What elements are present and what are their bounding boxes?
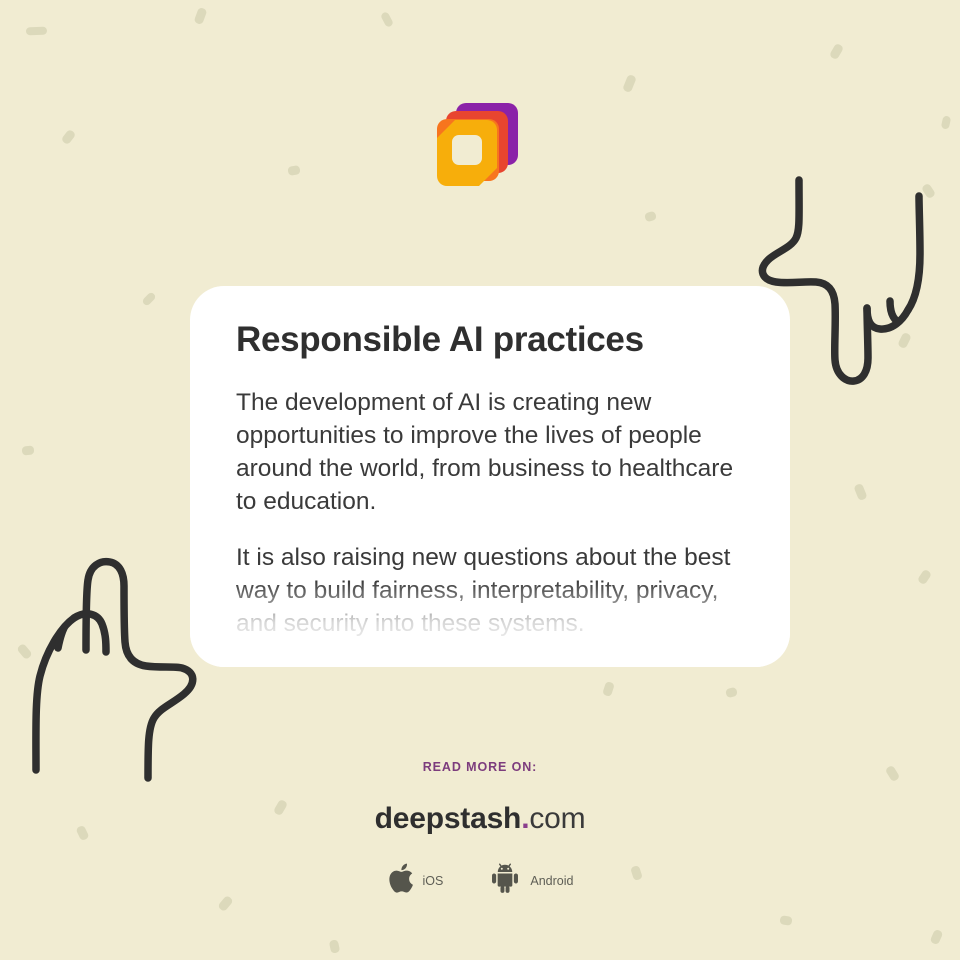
- footer: READ MORE ON: deepstash.com iOS: [0, 760, 960, 899]
- confetti-speck: [602, 681, 615, 697]
- ios-store-label: iOS: [423, 874, 444, 888]
- confetti-speck: [917, 569, 932, 586]
- confetti-speck: [287, 165, 300, 176]
- confetti-speck: [829, 43, 844, 60]
- confetti-speck: [853, 483, 867, 501]
- confetti-speck: [22, 445, 35, 455]
- confetti-speck: [26, 27, 47, 36]
- confetti-speck: [380, 11, 394, 28]
- card-paragraph-1: The development of AI is creating new op…: [236, 386, 744, 518]
- confetti-speck: [941, 115, 952, 129]
- apple-icon: [387, 862, 414, 899]
- brand-wordmark[interactable]: deepstash.com: [0, 804, 960, 834]
- idea-card[interactable]: Responsible AI practices The development…: [190, 286, 790, 667]
- read-more-label: READ MORE ON:: [0, 760, 960, 774]
- brand-tld: com: [529, 802, 585, 835]
- confetti-speck: [921, 183, 936, 200]
- android-store-label: Android: [530, 874, 573, 888]
- brand-name: deepstash: [375, 802, 522, 835]
- confetti-speck: [61, 129, 77, 146]
- android-icon: [489, 862, 521, 899]
- confetti-speck: [141, 291, 156, 307]
- card-paragraph-2: It is also raising new questions about t…: [236, 541, 744, 640]
- confetti-speck: [930, 929, 944, 945]
- confetti-speck: [16, 643, 33, 660]
- idea-card-content: Responsible AI practices The development…: [190, 286, 790, 663]
- confetti-speck: [329, 939, 341, 954]
- confetti-speck: [897, 332, 912, 349]
- confetti-speck: [725, 687, 738, 698]
- android-store-badge[interactable]: Android: [489, 862, 573, 899]
- confetti-speck: [622, 74, 637, 93]
- pointing-hand-doodle-left: [18, 556, 218, 791]
- logo-inner-cutout: [452, 135, 482, 165]
- confetti-speck: [644, 211, 657, 223]
- card-title: Responsible AI practices: [236, 320, 744, 360]
- confetti-speck: [194, 7, 208, 25]
- deepstash-logo: [424, 100, 528, 200]
- ios-store-badge[interactable]: iOS: [387, 862, 444, 899]
- store-badges: iOS Android: [0, 862, 960, 899]
- confetti-speck: [779, 915, 792, 926]
